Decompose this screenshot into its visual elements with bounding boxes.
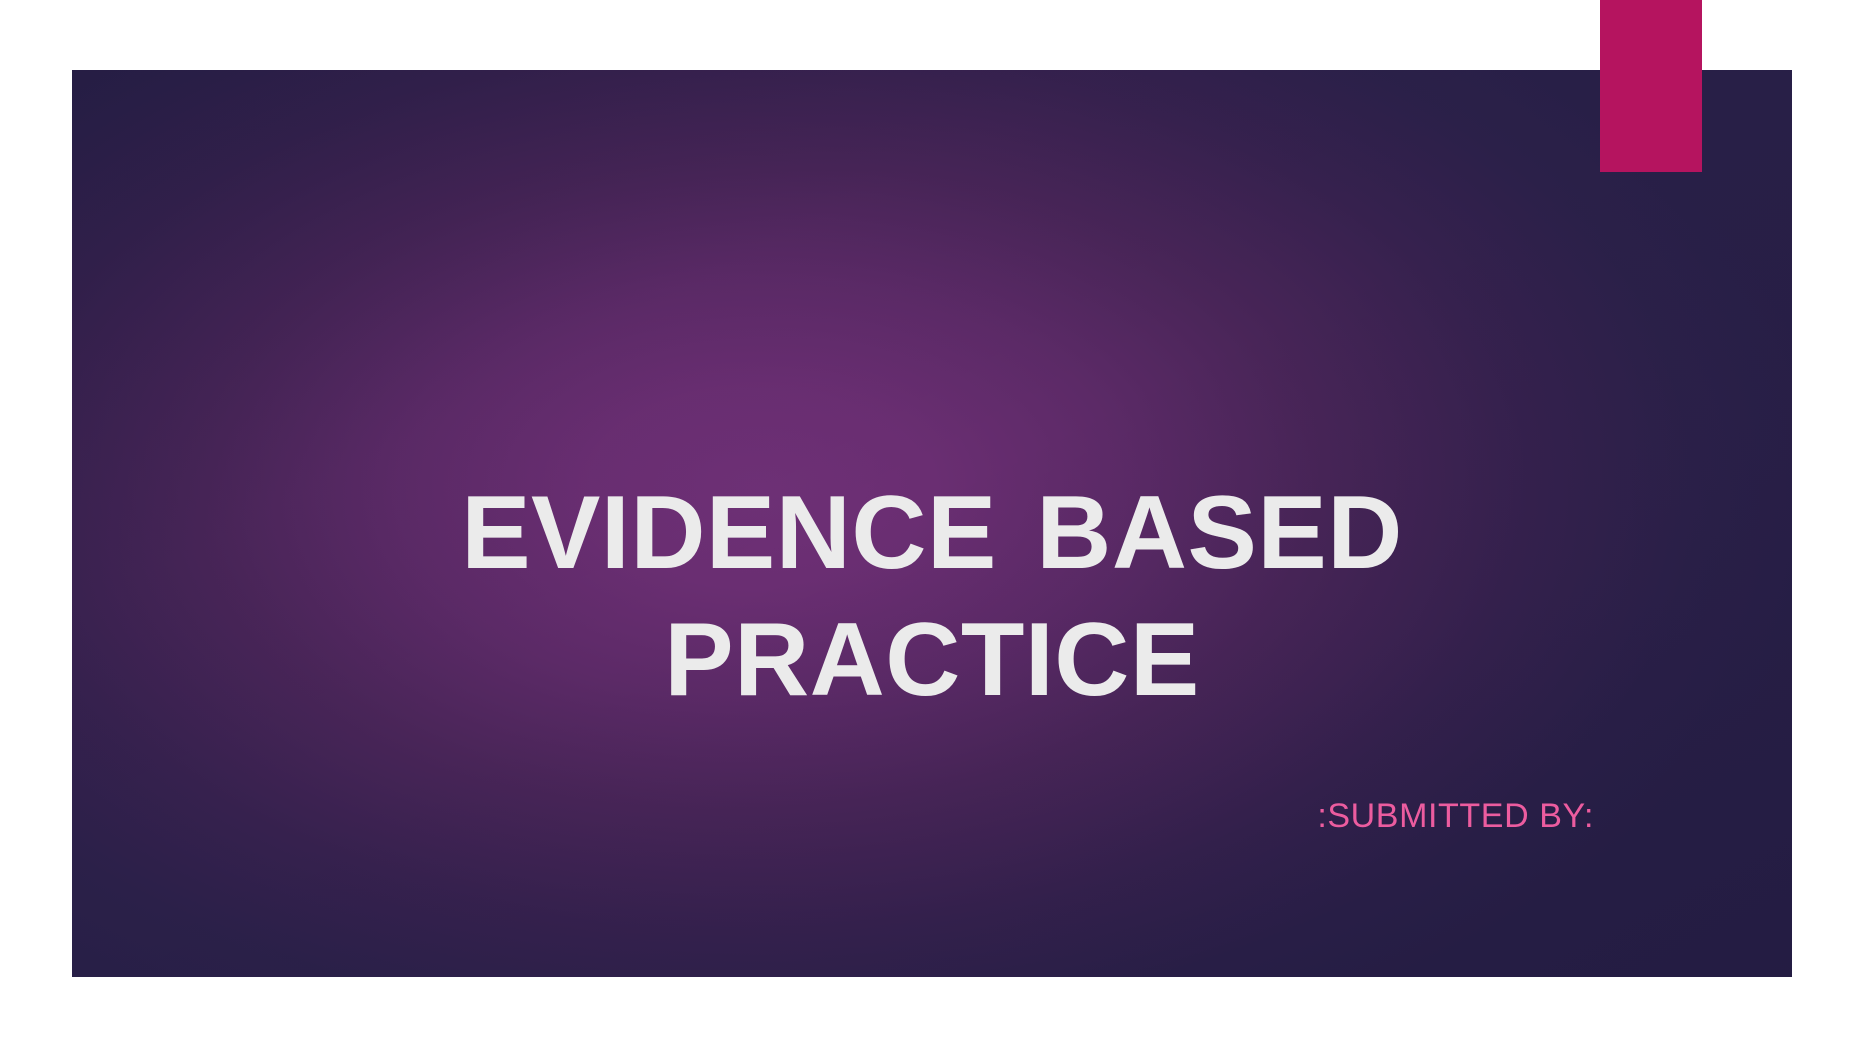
submitted-by-label: :SUBMITTED BY:	[1317, 798, 1594, 835]
page-title: EVIDENCE BASED PRACTICE	[202, 470, 1662, 724]
slide-canvas: EVIDENCE BASED PRACTICE :SUBMITTED BY:	[0, 0, 1867, 1050]
presentation-slide: EVIDENCE BASED PRACTICE :SUBMITTED BY:	[72, 70, 1792, 977]
subtitle-placeholder[interactable]: :SUBMITTED BY:	[202, 798, 1594, 835]
title-placeholder[interactable]: EVIDENCE BASED PRACTICE	[202, 470, 1662, 724]
magenta-accent-rectangle	[1600, 0, 1702, 172]
